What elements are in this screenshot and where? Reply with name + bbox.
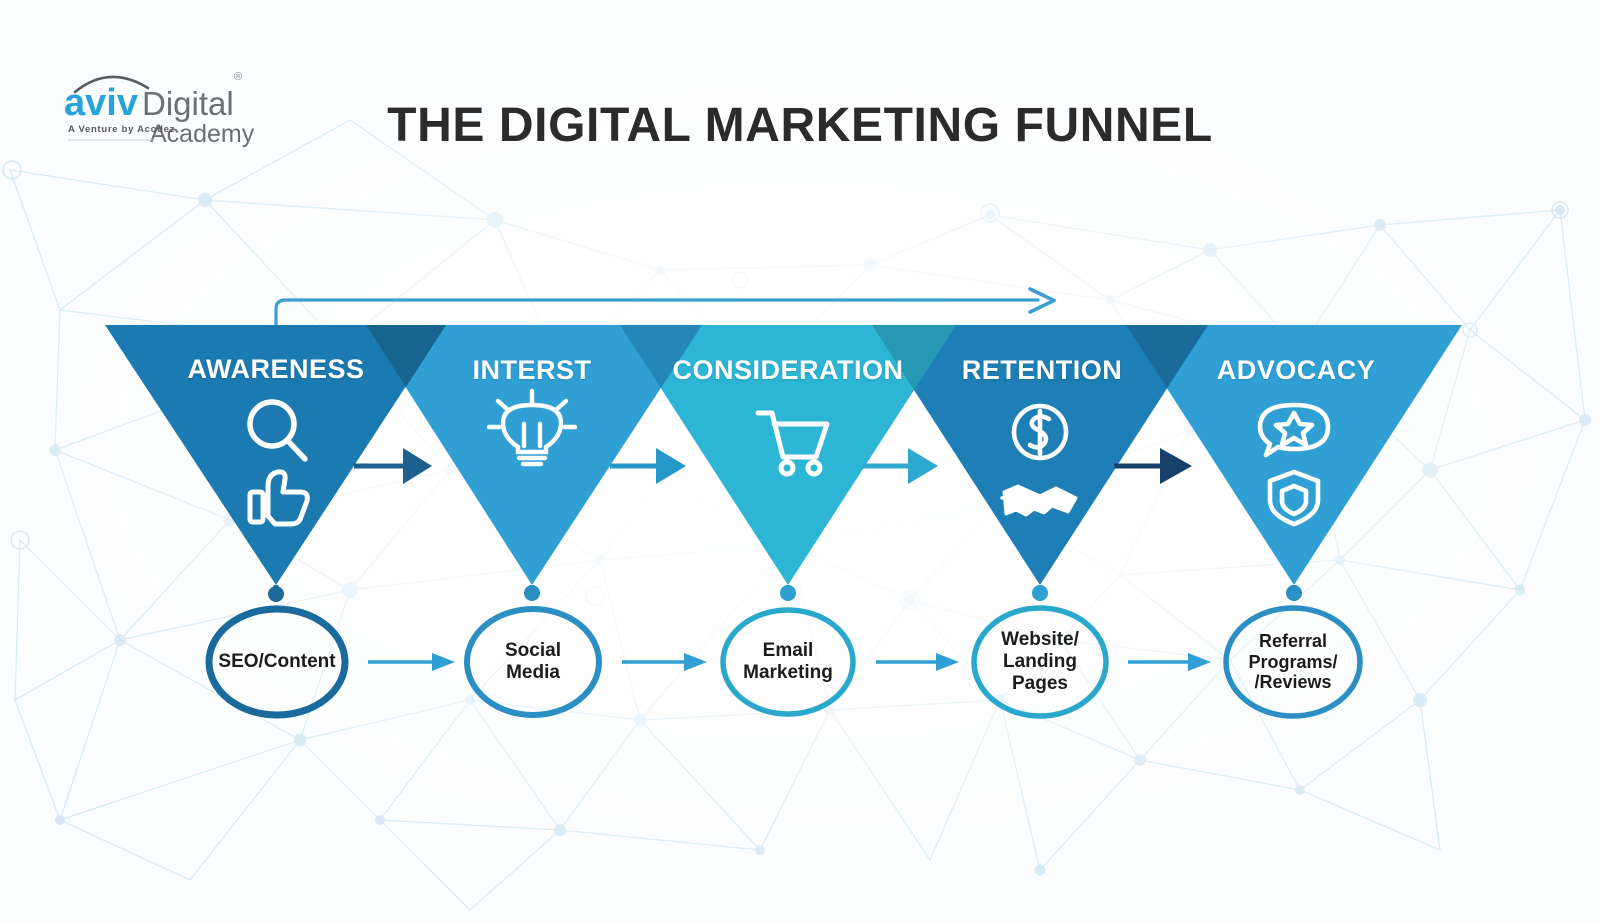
stage-arrow-3 xyxy=(862,448,938,484)
channel-label: Social Media xyxy=(501,640,565,684)
stage-arrow-1 xyxy=(354,448,432,484)
stage-label-retention: RETENTION xyxy=(962,355,1123,386)
stage-arrow-4 xyxy=(1114,448,1192,484)
logo-registered-mark: ® xyxy=(234,71,242,83)
stage-label-awareness: AWARENESS xyxy=(187,354,364,385)
channel-website-landing-pages: Website/ Landing Pages xyxy=(974,608,1106,716)
page-title: THE DIGITAL MARKETING FUNNEL xyxy=(0,98,1600,153)
channel-social-media: Social Media xyxy=(467,609,599,715)
channel-label: Website/ Landing Pages xyxy=(997,629,1083,695)
stage-arrow-2 xyxy=(610,448,686,484)
channel-label: Referral Programs/ /Reviews xyxy=(1244,631,1341,694)
funnel-stem-connectors xyxy=(268,585,1302,602)
stage-label-interest: INTERST xyxy=(472,355,591,386)
channel-seo-content: SEO/Content xyxy=(209,609,345,715)
infographic-canvas: aviv Digital ® Academy A Venture by Acod… xyxy=(0,0,1600,923)
channel-arrow-3 xyxy=(876,653,959,671)
channel-arrow-4 xyxy=(1128,653,1211,671)
channel-email-marketing: Email Marketing xyxy=(723,610,853,714)
feedback-loop-arrow xyxy=(276,289,1054,330)
stage-label-advocacy: ADVOCACY xyxy=(1217,355,1376,386)
channel-label: Email Marketing xyxy=(739,640,837,684)
channel-referral-programs-reviews: Referral Programs/ /Reviews xyxy=(1225,608,1361,716)
channel-arrow-2 xyxy=(622,653,707,671)
channel-arrow-1 xyxy=(368,653,455,671)
stage-label-consideration: CONSIDERATION xyxy=(672,355,903,386)
channel-label: SEO/Content xyxy=(214,651,339,673)
